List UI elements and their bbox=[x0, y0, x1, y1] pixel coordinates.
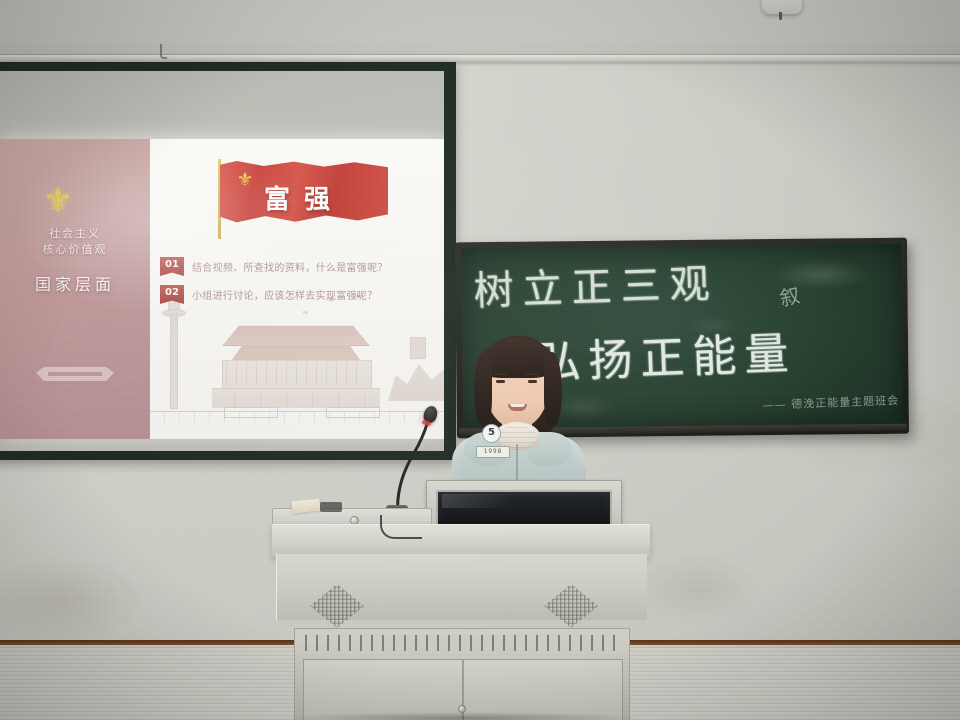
slide-left-heading: 国家层面 bbox=[0, 271, 150, 295]
ceiling bbox=[0, 0, 960, 62]
ceiling-hook-icon bbox=[160, 44, 167, 59]
podium-cabinet bbox=[294, 628, 630, 720]
lecture-podium bbox=[272, 480, 650, 720]
great-wall-motif bbox=[388, 331, 444, 401]
eye-right bbox=[528, 380, 537, 383]
number-badge: 5 bbox=[482, 424, 501, 443]
slide-left-line2: 核心价值观 bbox=[0, 243, 150, 258]
monitor-glare bbox=[442, 494, 512, 508]
ceiling-speaker bbox=[762, 0, 802, 14]
projected-slide: ⚜ 社会主义 核心价值观 国家层面 bbox=[0, 139, 444, 439]
bullet-text-01: 结合视频、所查找的资料，什么是富强呢？ bbox=[192, 259, 388, 274]
bullet-number-02: 02 bbox=[160, 285, 184, 304]
projection-screen-surface: ⚜ 社会主义 核心价值观 国家层面 bbox=[0, 71, 444, 451]
slide-left-panel: ⚜ 社会主义 核心价值观 国家层面 bbox=[0, 139, 150, 439]
chalkboard-line1: 树立正三观 bbox=[473, 251, 720, 317]
podium-top bbox=[272, 524, 650, 557]
huabiao-column-icon bbox=[162, 295, 184, 407]
slide-left-line1: 社会主义 bbox=[0, 227, 150, 242]
flag-text: 富强 bbox=[220, 179, 388, 216]
podium-floor-shadow bbox=[286, 712, 638, 720]
badge-label: 1998 bbox=[476, 446, 510, 458]
projection-screen-frame: ⚜ 社会主义 核心价值观 国家层面 bbox=[0, 62, 456, 460]
remote-control bbox=[320, 502, 342, 512]
bullet-number-01: 01 bbox=[160, 257, 184, 276]
classroom-photo: ⚜ 社会主义 核心价值观 国家层面 bbox=[0, 0, 960, 720]
tiananmen-gate bbox=[212, 323, 380, 407]
slide-bullet-02: 02 小组进行讨论，应该怎样去实现富强呢？ bbox=[160, 285, 432, 305]
microphone-cable bbox=[380, 515, 422, 539]
ventilation-slots bbox=[305, 635, 619, 651]
party-emblem-icon: ⚜ bbox=[38, 184, 78, 218]
eyebrow-left bbox=[494, 373, 506, 375]
hair-left bbox=[474, 352, 492, 426]
eyebrow-right bbox=[526, 373, 538, 375]
slide-bullet-01: 01 结合视频、所查找的资料，什么是富强呢？ bbox=[160, 257, 432, 277]
bullet-text-02: 小组进行讨论，应该怎样去实现富强呢？ bbox=[192, 287, 377, 302]
bird-icon: ❧ bbox=[302, 307, 309, 318]
screen-mount-rail bbox=[0, 55, 960, 62]
hair-right bbox=[544, 352, 562, 426]
eye-left bbox=[496, 380, 505, 383]
ribbon-banner-icon bbox=[36, 367, 114, 381]
party-flag: ⚜ 富强 bbox=[212, 157, 390, 239]
